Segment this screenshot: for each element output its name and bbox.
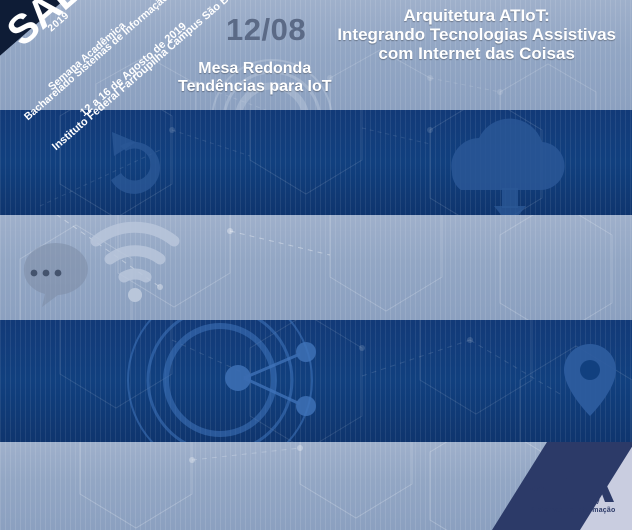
talk-title: Arquitetura ATIoT: Integrando Tecnologia…: [337, 6, 616, 63]
logo-caption: Sistemas de Informação: [520, 507, 626, 514]
svg-text:</>: </>: [530, 485, 546, 495]
network-nodes-icon: [0, 320, 632, 442]
event-identity-ribbon: 2019 SABSI Semana Acadêmica Bacharelado …: [0, 0, 300, 240]
day-band-16-08: 16/08 Trajetória profissional e lições a…: [0, 442, 632, 530]
course-logo: </> v Sistemas de Informação: [520, 466, 626, 524]
svg-text:v: v: [595, 498, 600, 506]
day-band-15-08: 15/08 Agile, Lean e Design Thinking inte…: [0, 320, 632, 442]
event-poster: 12/08 Arquitetura ATIoT: Integrando Tecn…: [0, 0, 632, 530]
